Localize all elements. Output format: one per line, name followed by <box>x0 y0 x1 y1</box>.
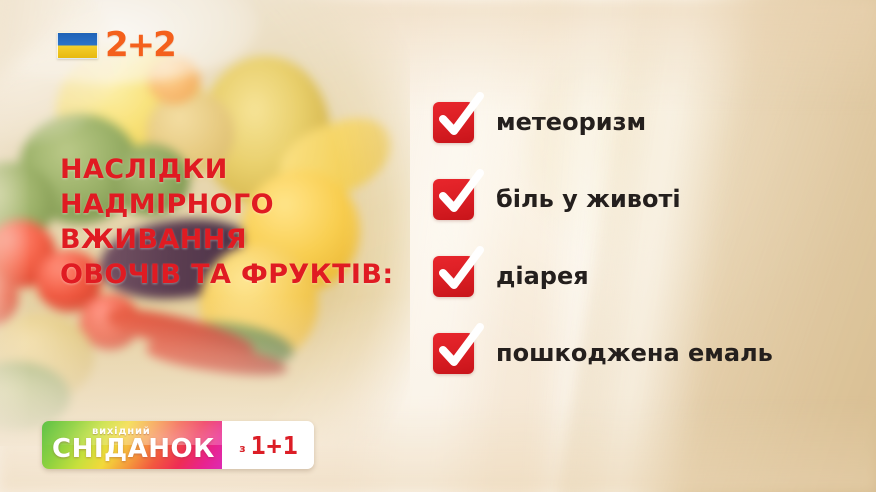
partner-with-word: з <box>239 442 245 455</box>
broadcast-lower-third-slide: 2+2 НАСЛІДКИ НАДМІРНОГО ВЖИВАННЯ ОВОЧІВ … <box>0 0 876 492</box>
list-item-label: метеоризм <box>496 108 646 136</box>
partner-logo-plus: + <box>267 433 281 458</box>
list-item: діарея <box>433 250 773 302</box>
checkbox-3 <box>433 256 474 297</box>
consequences-checklist: метеоризм біль у животі діарея <box>433 96 773 404</box>
headline-line-4: ОВОЧІВ ТА ФРУКТІВ: <box>60 257 420 292</box>
channel-logo: 2+2 <box>57 30 175 60</box>
list-item-label: біль у животі <box>496 185 681 213</box>
headline-line-2: НАДМІРНОГО <box>60 187 420 222</box>
checkbox-1 <box>433 102 474 143</box>
check-mark-icon <box>435 323 487 375</box>
list-item: пошкоджена емаль <box>433 327 773 379</box>
check-mark-icon <box>435 169 487 221</box>
ukraine-flag-icon <box>57 32 98 59</box>
partner-panel: з 1 + 1 <box>222 421 314 469</box>
list-item-label: пошкоджена емаль <box>496 339 773 367</box>
list-item: біль у животі <box>433 173 773 225</box>
channel-wordmark: 2+2 <box>105 30 175 60</box>
list-item: метеоризм <box>433 96 773 148</box>
checkbox-4 <box>433 333 474 374</box>
list-item-label: діарея <box>496 262 589 290</box>
checkbox-2 <box>433 179 474 220</box>
partner-logo-digit-2: 1 <box>283 433 297 458</box>
headline-line-3: ВЖИВАННЯ <box>60 222 420 257</box>
headline-line-1: НАСЛІДКИ <box>60 152 420 187</box>
partner-logo-digit-1: 1 <box>251 433 265 458</box>
show-badge: вихідний СНІДАНОК з 1 + 1 <box>42 421 314 469</box>
show-title: СНІДАНОК <box>52 434 215 464</box>
show-badge-gradient-panel: вихідний СНІДАНОК <box>42 421 222 469</box>
page-title: НАСЛІДКИ НАДМІРНОГО ВЖИВАННЯ ОВОЧІВ ТА Ф… <box>60 152 420 292</box>
check-mark-icon <box>435 246 487 298</box>
partner-logo-1plus1: 1 + 1 <box>251 433 297 458</box>
check-mark-icon <box>435 92 487 144</box>
